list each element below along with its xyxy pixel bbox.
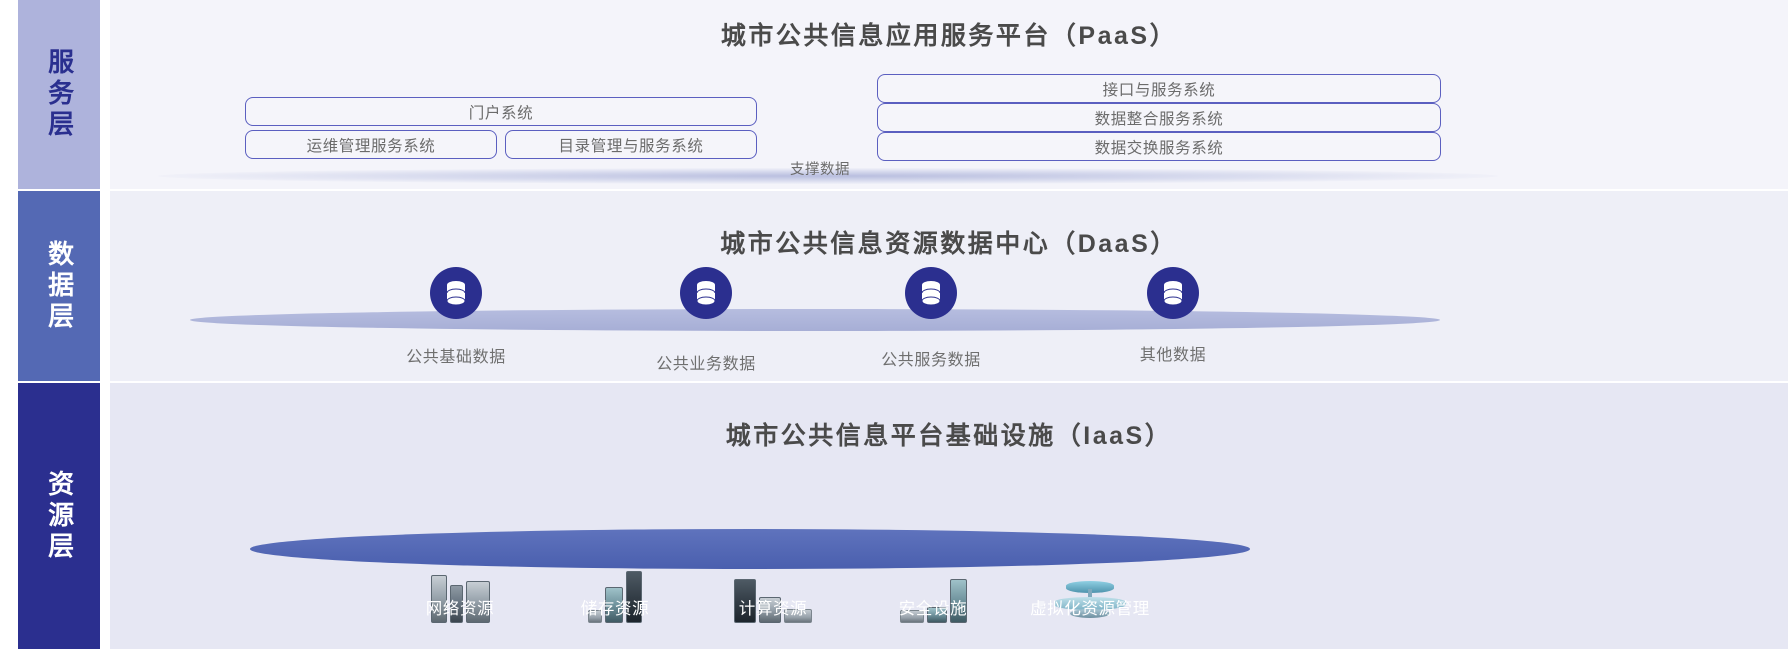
layer-spine-service-label: 服务层 — [42, 48, 75, 141]
layer-spine-data: 数据层 — [18, 191, 100, 381]
layer-panel-data: 城市公共信息资源数据中心（DaaS） 公共基础数据 — [110, 191, 1788, 381]
layer-spine-resource: 资源层 — [18, 383, 100, 649]
data-node-circle — [905, 267, 957, 319]
layer-spine-resource-label: 资源层 — [42, 470, 75, 563]
resource-node-label-network: 网络资源 — [385, 595, 535, 619]
data-node-label-public-basic: 公共基础数据 — [366, 343, 546, 367]
resource-node-label-security: 安全设施 — [858, 595, 1008, 619]
service-box-portal-system[interactable]: 门户系统 — [245, 97, 757, 126]
data-node-label-public-service: 公共服务数据 — [841, 346, 1021, 370]
layer-panel-resource: 城市公共信息平台基础设施（IaaS） 网络资源 储存资源 — [110, 383, 1788, 649]
resource-node-compute[interactable]: 计算资源 — [698, 443, 848, 623]
service-box-data-integration[interactable]: 数据整合服务系统 — [877, 103, 1441, 132]
database-icon — [1162, 280, 1184, 306]
resource-node-network[interactable]: 网络资源 — [385, 443, 535, 623]
database-icon — [695, 280, 717, 306]
data-node-circle — [430, 267, 482, 319]
data-node-public-service[interactable] — [905, 267, 957, 319]
resource-node-label-compute: 计算资源 — [698, 595, 848, 619]
data-node-label-public-business: 公共业务数据 — [616, 350, 796, 374]
resource-node-virtualization[interactable]: 虚拟化资源管理 — [1015, 443, 1165, 623]
data-node-public-business[interactable] — [680, 267, 732, 319]
data-node-label-other: 其他数据 — [1083, 341, 1263, 365]
service-box-interface-service[interactable]: 接口与服务系统 — [877, 74, 1441, 103]
data-base-ellipse — [190, 309, 1440, 331]
service-layer-title: 城市公共信息应用服务平台（PaaS） — [110, 16, 1788, 52]
support-data-label: 支撑数据 — [765, 158, 875, 179]
resource-node-label-storage: 储存资源 — [540, 595, 690, 619]
data-node-circle — [680, 267, 732, 319]
layer-spine-data-label: 数据层 — [42, 240, 75, 333]
layer-spine-service: 服务层 — [18, 0, 100, 189]
data-node-circle — [1147, 267, 1199, 319]
resource-node-security[interactable]: 安全设施 — [858, 443, 1008, 623]
data-node-other[interactable] — [1147, 267, 1199, 319]
service-box-data-exchange[interactable]: 数据交换服务系统 — [877, 132, 1441, 161]
service-box-catalog-management[interactable]: 目录管理与服务系统 — [505, 130, 757, 159]
layer-panel-service: 城市公共信息应用服务平台（PaaS） 门户系统 运维管理服务系统 目录管理与服务… — [110, 0, 1788, 189]
database-icon — [920, 280, 942, 306]
service-box-ops-management[interactable]: 运维管理服务系统 — [245, 130, 497, 159]
resource-node-label-virtualization: 虚拟化资源管理 — [1015, 595, 1165, 619]
data-node-public-basic[interactable] — [430, 267, 482, 319]
database-icon — [445, 280, 467, 306]
architecture-diagram: 服务层 城市公共信息应用服务平台（PaaS） 门户系统 运维管理服务系统 目录管… — [0, 0, 1788, 649]
data-layer-title: 城市公共信息资源数据中心（DaaS） — [110, 224, 1788, 260]
resource-node-storage[interactable]: 储存资源 — [540, 443, 690, 623]
